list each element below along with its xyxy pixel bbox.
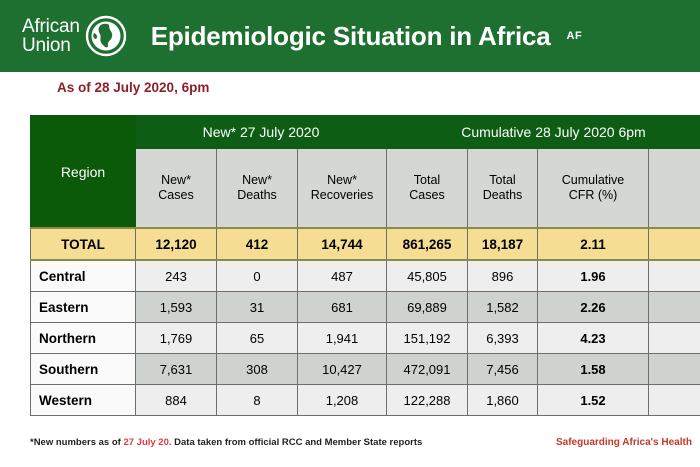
cell-new-recoveries: 1,208	[298, 385, 387, 416]
cell-cfr: 4.23	[538, 323, 649, 354]
cell-total-overflow	[649, 228, 700, 260]
as-of-date: As of 28 July 2020, 6pm	[57, 80, 209, 95]
cell-cfr: 1.58	[538, 354, 649, 385]
cell-total-new-deaths: 412	[217, 228, 298, 260]
cell-overflow	[649, 323, 700, 354]
cell-overflow	[649, 354, 700, 385]
cell-region: Southern	[31, 354, 136, 385]
column-header-cumulative-cfr-line1: Cumulative	[538, 173, 648, 188]
cell-cfr: 1.52	[538, 385, 649, 416]
footnote-part-1: *New numbers as of	[30, 437, 123, 448]
cell-new-cases: 884	[136, 385, 217, 416]
cell-new-cases: 7,631	[136, 354, 217, 385]
column-header-new-deaths: New* Deaths	[217, 149, 298, 229]
cell-overflow	[649, 385, 700, 416]
table-row-total: TOTAL 12,120 412 14,744 861,265 18,187 2…	[31, 228, 700, 260]
cell-total-cfr: 2.11	[538, 228, 649, 260]
page-title: Epidemiologic Situation in Africa	[151, 21, 551, 52]
column-header-overflow	[649, 149, 700, 229]
column-header-total-deaths-line2: Deaths	[468, 188, 537, 203]
cell-new-deaths: 0	[217, 260, 298, 292]
column-header-new-recoveries: New* Recoveries	[298, 149, 387, 229]
column-header-total-deaths-line1: Total	[468, 173, 537, 188]
epidemiologic-table: Region New* 27 July 2020 Cumulative 28 J…	[30, 115, 700, 416]
table-head: Region New* 27 July 2020 Cumulative 28 J…	[31, 116, 700, 229]
cell-total-deaths: 6,393	[468, 323, 538, 354]
cell-region: Northern	[31, 323, 136, 354]
table-group-header-row: Region New* 27 July 2020 Cumulative 28 J…	[31, 116, 700, 149]
cell-total-total-deaths: 18,187	[468, 228, 538, 260]
cell-cfr: 2.26	[538, 292, 649, 323]
african-union-logo-text: African Union	[22, 17, 80, 55]
cell-overflow	[649, 260, 700, 292]
column-header-new-recoveries-line1: New*	[298, 173, 386, 188]
column-header-new-cases-line1: New*	[136, 173, 216, 188]
cell-new-deaths: 65	[217, 323, 298, 354]
logo-line-1: African	[22, 17, 80, 36]
cell-total-cases: 151,192	[387, 323, 468, 354]
table-row: Eastern 1,593 31 681 69,889 1,582 2.26	[31, 292, 700, 323]
african-union-logo: African Union	[22, 15, 127, 57]
column-header-region: Region	[31, 116, 136, 229]
cell-total-cases: 472,091	[387, 354, 468, 385]
column-header-cumulative-cfr: Cumulative CFR (%)	[538, 149, 649, 229]
cell-total-total-cases: 861,265	[387, 228, 468, 260]
cell-region: Western	[31, 385, 136, 416]
page-header-banner: African Union Epidemiologic Situation in…	[0, 0, 700, 72]
cell-new-recoveries: 487	[298, 260, 387, 292]
table-row: Southern 7,631 308 10,427 472,091 7,456 …	[31, 354, 700, 385]
column-header-total-deaths: Total Deaths	[468, 149, 538, 229]
cell-new-recoveries: 681	[298, 292, 387, 323]
column-header-total-cases-line1: Total	[387, 173, 467, 188]
column-header-new-deaths-line1: New*	[217, 173, 297, 188]
table-row: Central 243 0 487 45,805 896 1.96	[31, 260, 700, 292]
column-header-new-cases: New* Cases	[136, 149, 217, 229]
african-union-emblem-icon	[85, 15, 127, 57]
cell-region: Central	[31, 260, 136, 292]
cell-cfr: 1.96	[538, 260, 649, 292]
group-header-cumulative: Cumulative 28 July 2020 6pm	[387, 116, 700, 149]
footnote: *New numbers as of 27 July 20. Data take…	[30, 437, 422, 448]
column-header-new-cases-line2: Cases	[136, 188, 216, 203]
logo-line-2: Union	[22, 36, 80, 55]
africa-cdc-logo-partial: AF	[567, 30, 583, 42]
cell-overflow	[649, 292, 700, 323]
cell-new-cases: 243	[136, 260, 217, 292]
column-header-new-deaths-line2: Deaths	[217, 188, 297, 203]
cell-total-cases: 45,805	[387, 260, 468, 292]
column-header-cumulative-cfr-line2: CFR (%)	[538, 188, 648, 203]
column-header-total-cases-line2: Cases	[387, 188, 467, 203]
table-row: Northern 1,769 65 1,941 151,192 6,393 4.…	[31, 323, 700, 354]
cell-total-region: TOTAL	[31, 228, 136, 260]
column-header-total-cases: Total Cases	[387, 149, 468, 229]
footnote-part-2: Data taken from official RCC and Member …	[172, 437, 423, 448]
group-header-new: New* 27 July 2020	[136, 116, 387, 149]
cell-total-cases: 122,288	[387, 385, 468, 416]
cell-new-deaths: 8	[217, 385, 298, 416]
cell-total-deaths: 1,860	[468, 385, 538, 416]
footnote-highlight-date: 27 July 20.	[123, 437, 171, 448]
table-body: TOTAL 12,120 412 14,744 861,265 18,187 2…	[31, 228, 700, 416]
cell-new-deaths: 308	[217, 354, 298, 385]
cell-total-deaths: 7,456	[468, 354, 538, 385]
cell-total-deaths: 896	[468, 260, 538, 292]
cell-new-cases: 1,593	[136, 292, 217, 323]
epidemiologic-table-container: Region New* 27 July 2020 Cumulative 28 J…	[30, 115, 700, 425]
column-header-new-recoveries-line2: Recoveries	[298, 188, 386, 203]
tagline: Safeguarding Africa's Health	[556, 437, 692, 448]
cell-region: Eastern	[31, 292, 136, 323]
cell-new-recoveries: 1,941	[298, 323, 387, 354]
cell-total-deaths: 1,582	[468, 292, 538, 323]
cell-total-new-recoveries: 14,744	[298, 228, 387, 260]
cell-total-new-cases: 12,120	[136, 228, 217, 260]
table-row: Western 884 8 1,208 122,288 1,860 1.52	[31, 385, 700, 416]
cell-new-deaths: 31	[217, 292, 298, 323]
cell-new-cases: 1,769	[136, 323, 217, 354]
cell-new-recoveries: 10,427	[298, 354, 387, 385]
cell-total-cases: 69,889	[387, 292, 468, 323]
